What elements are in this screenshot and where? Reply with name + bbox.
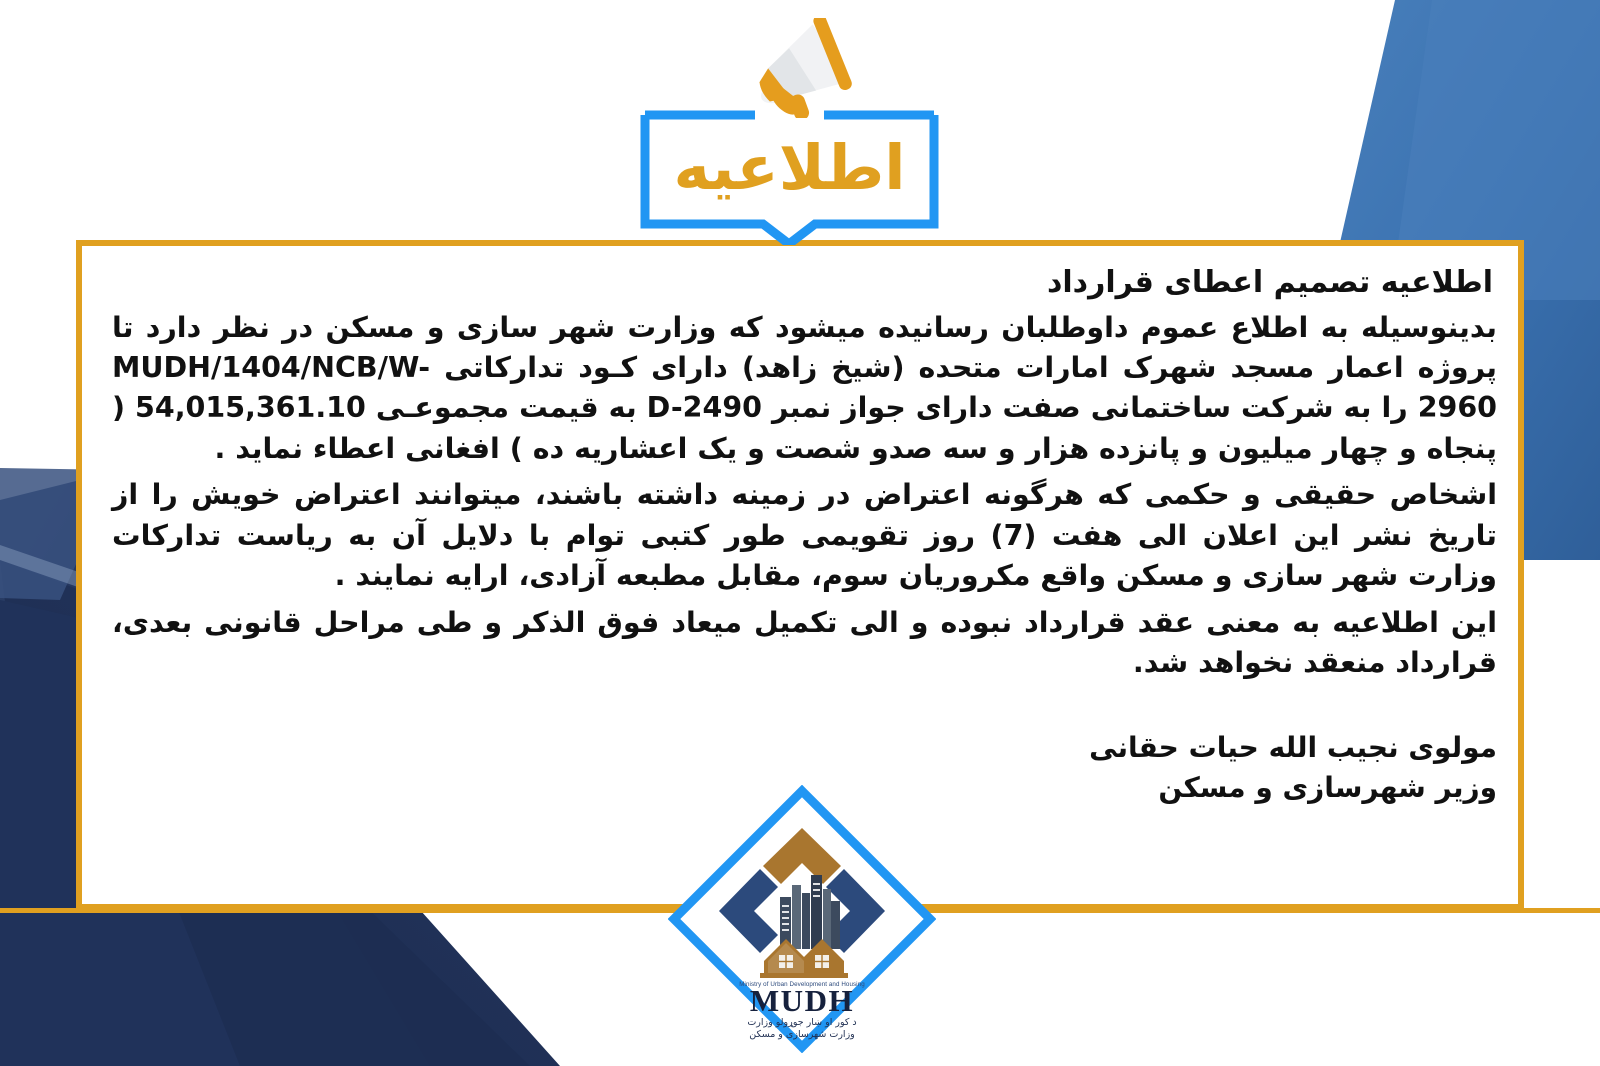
page-title: اطلاعیه تصمیم اعطای قرارداد bbox=[112, 264, 1493, 302]
paragraph-disclaimer: این اطلاعیه به معنی عقد قرارداد نبوده و … bbox=[112, 603, 1497, 684]
paragraph-objection: اشخاص حقیقی و حکمی که هرگونه اعتراض در ز… bbox=[112, 475, 1497, 596]
paragraph-award: بدینوسیله به اطلاع عموم داوطلبان رسانیده… bbox=[112, 308, 1497, 470]
banner-label: اطلاعیه bbox=[637, 107, 942, 229]
mudh-logo: Ministry of Urban Development and Housin… bbox=[668, 785, 936, 1053]
signatory-name: مولوی نجیب الله حیات حقانی bbox=[112, 728, 1497, 769]
logo-tagline-fa: وزارت شهرسازی و مسکن bbox=[749, 1029, 855, 1040]
announcement-bubble: اطلاعیه bbox=[637, 107, 942, 245]
logo-tagline-ps: د کور او ښار جوړولو وزارت bbox=[747, 1017, 856, 1028]
poster-canvas: اطلاعیه اطلاعیه تصمیم اعطای قرارداد بدین… bbox=[0, 0, 1600, 1066]
logo-acronym: MUDH bbox=[750, 983, 854, 1018]
announcement-body: اطلاعیه تصمیم اعطای قرارداد بدینوسیله به… bbox=[112, 256, 1497, 809]
megaphone-icon bbox=[748, 18, 858, 118]
